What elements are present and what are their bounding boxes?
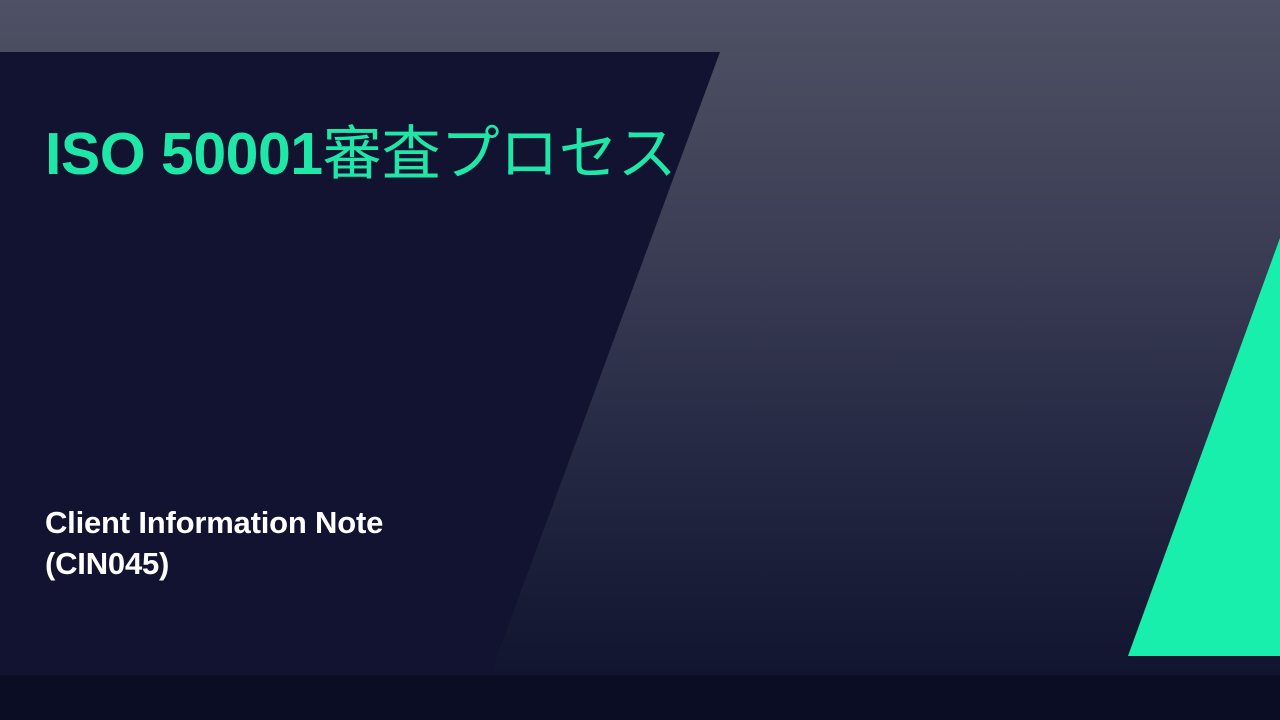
slide-title: ISO 50001審査プロセス	[45, 120, 805, 189]
background-bottom-band	[0, 675, 1280, 720]
slide-title-cjk: 審査プロセス	[323, 119, 677, 188]
slide-subtitle-line-2: (CIN045)	[45, 544, 665, 585]
slide-title-latin: ISO 50001	[45, 121, 323, 187]
title-slide: ISO 50001審査プロセス Client Information Note …	[0, 0, 1280, 720]
slide-subtitle-line-1: Client Information Note	[45, 503, 665, 544]
background-top-band	[0, 0, 1280, 52]
slide-subtitle: Client Information Note (CIN045)	[45, 503, 665, 585]
